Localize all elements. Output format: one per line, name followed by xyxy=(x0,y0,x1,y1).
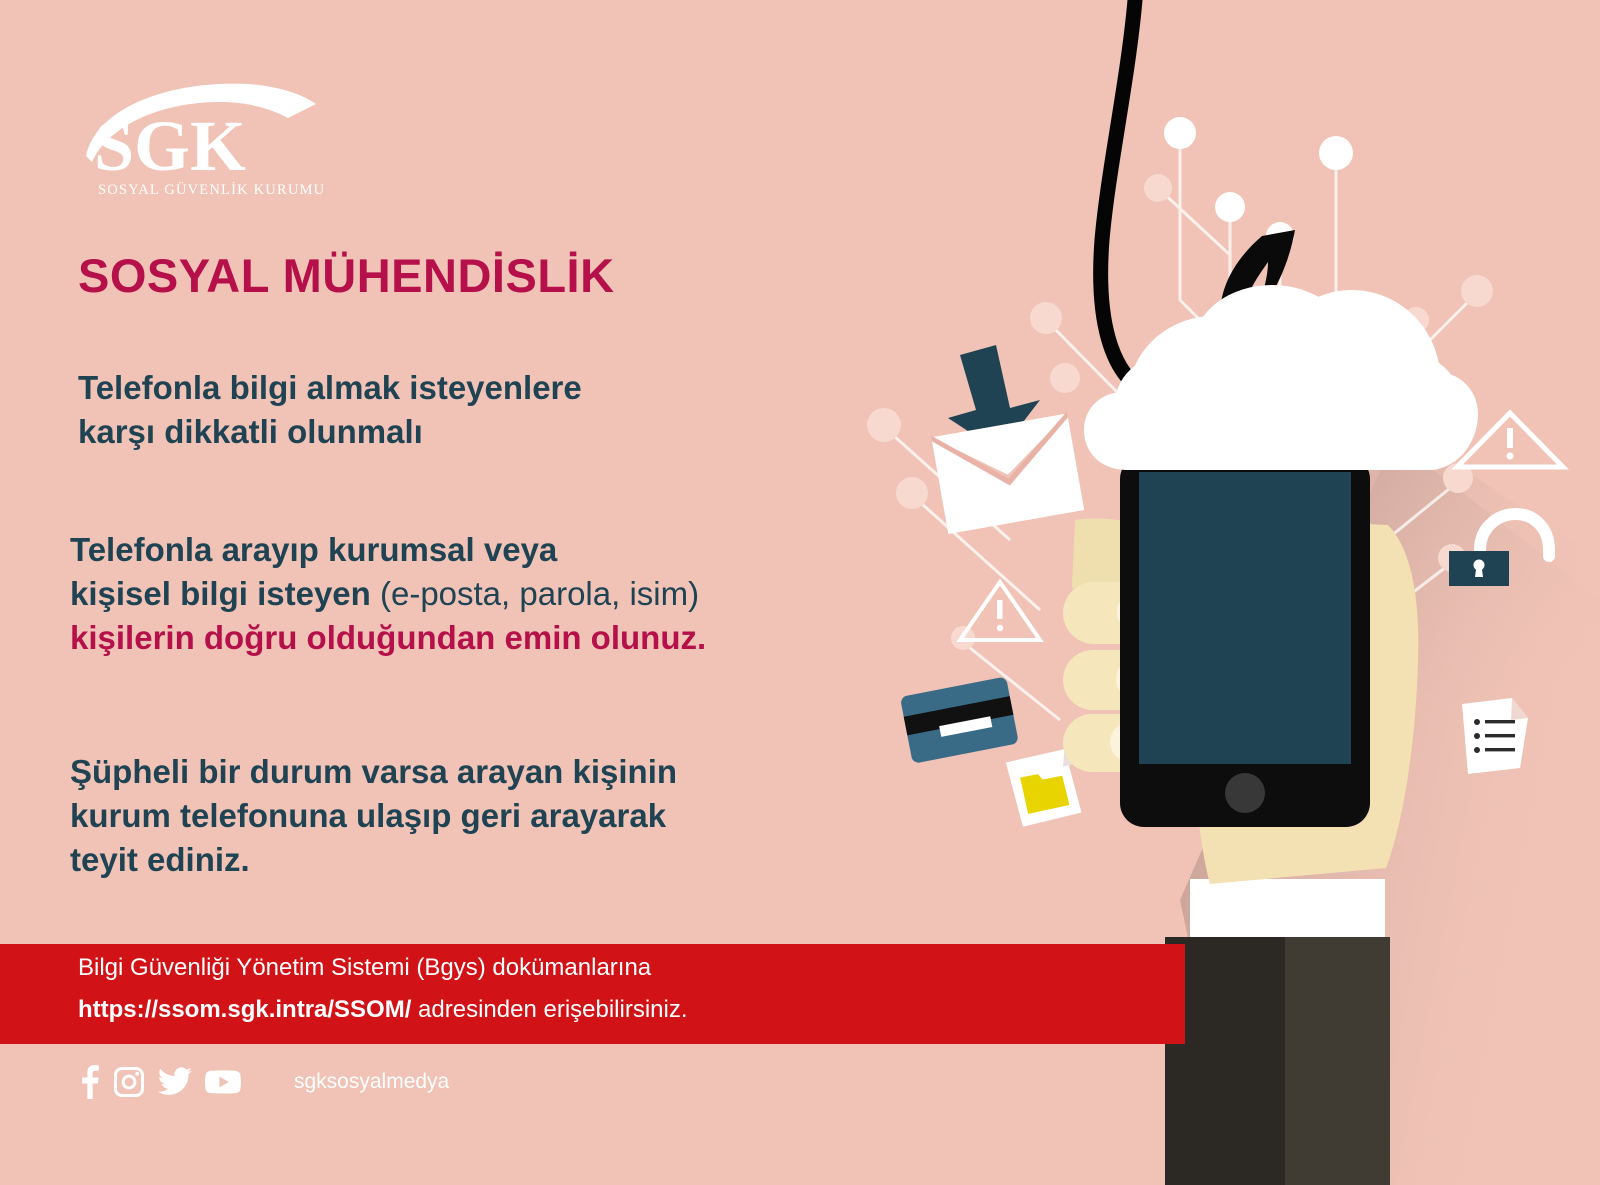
info-band-line-1: Bilgi Güvenliği Yönetim Sistemi (Bgys) d… xyxy=(78,954,651,982)
paragraph-two-line-1: Telefonla arayıp kurumsal veya xyxy=(70,528,706,572)
credit-card-icon xyxy=(900,676,1019,763)
suit-sleeve xyxy=(1165,879,1390,1185)
facebook-icon[interactable] xyxy=(78,1065,100,1099)
poster-canvas: SGK SOSYAL GÜVENLİK KURUMU SOSYAL MÜHEND… xyxy=(0,0,1600,1185)
paragraph-three: Şüpheli bir durum varsa arayan kişinin k… xyxy=(70,750,677,882)
circuit-dots xyxy=(1164,117,1353,250)
info-band-line-2: https://ssom.sgk.intra/SSOM/ adresinden … xyxy=(78,996,688,1024)
paragraph-one-line-2: karşı dikkatli olunmalı xyxy=(78,410,582,454)
sgk-logo: SGK SOSYAL GÜVENLİK KURUMU xyxy=(78,78,328,213)
info-band-line-2-rest: adresinden erişebilirsiniz. xyxy=(411,996,687,1023)
envelope-icon xyxy=(931,412,1084,534)
youtube-icon[interactable] xyxy=(205,1069,241,1095)
paragraph-three-line-3: teyit ediniz. xyxy=(70,838,677,882)
instagram-icon[interactable] xyxy=(113,1066,145,1098)
paragraph-three-line-1: Şüpheli bir durum varsa arayan kişinin xyxy=(70,750,677,794)
paragraph-one-line-1: Telefonla bilgi almak isteyenlere xyxy=(78,366,582,410)
paragraph-one: Telefonla bilgi almak isteyenlere karşı … xyxy=(78,366,582,454)
page-title: SOSYAL MÜHENDİSLİK xyxy=(78,248,615,303)
twitter-icon[interactable] xyxy=(158,1067,192,1097)
paragraph-two-bold: kişisel bilgi isteyen xyxy=(70,575,371,612)
paragraph-two: Telefonla arayıp kurumsal veya kişisel b… xyxy=(70,528,706,660)
paragraph-two-light: (e-posta, parola, isim) xyxy=(371,575,699,612)
bgys-url-link[interactable]: https://ssom.sgk.intra/SSOM/ xyxy=(78,996,411,1023)
smartphone-icon xyxy=(1120,455,1370,827)
logo-subtitle: SOSYAL GÜVENLİK KURUMU xyxy=(98,181,325,198)
social-row: sgksosyalmedya xyxy=(78,1065,449,1099)
logo-acronym: SGK xyxy=(94,106,246,186)
paragraph-three-line-2: kurum telefonuna ulaşıp geri arayarak xyxy=(70,794,677,838)
paragraph-two-line-2: kişisel bilgi isteyen (e-posta, parola, … xyxy=(70,572,706,616)
social-handle: sgksosyalmedya xyxy=(294,1070,449,1094)
document-list-icon xyxy=(1462,698,1528,774)
paragraph-two-line-3: kişilerin doğru olduğundan emin olunuz. xyxy=(70,616,706,660)
